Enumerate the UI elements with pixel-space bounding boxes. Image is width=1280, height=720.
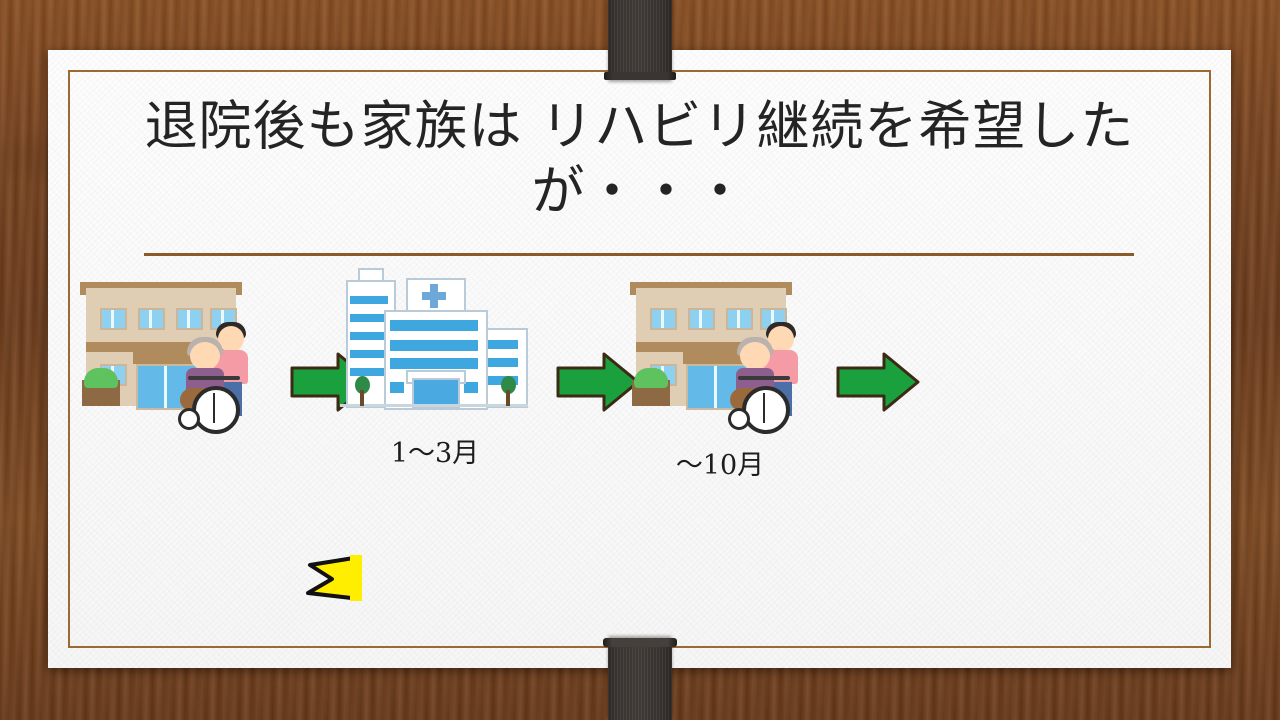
tree-icon-left <box>352 376 372 406</box>
hospital-illustration <box>338 266 530 431</box>
slide-paper: 退院後も家族は リハビリ継続を希望したが・・・ <box>48 50 1231 668</box>
page-title: 退院後も家族は リハビリ継続を希望したが・・・ <box>48 94 1231 224</box>
tape-strip-top-icon <box>608 0 672 80</box>
timeline-caption-3: 〜10月 <box>620 450 820 482</box>
speech-bubble-tail-icon <box>306 555 362 601</box>
right-arrow-icon-3 <box>836 350 920 414</box>
wheelchair-people-illustration <box>174 324 260 420</box>
timeline-row: 1〜3月 <box>48 250 1231 460</box>
tape-strip-bottom-icon <box>608 638 672 720</box>
wheelchair-people-illustration-2 <box>724 324 810 420</box>
timeline-caption-2: 1〜3月 <box>330 438 540 470</box>
tree-icon-right <box>498 376 518 406</box>
